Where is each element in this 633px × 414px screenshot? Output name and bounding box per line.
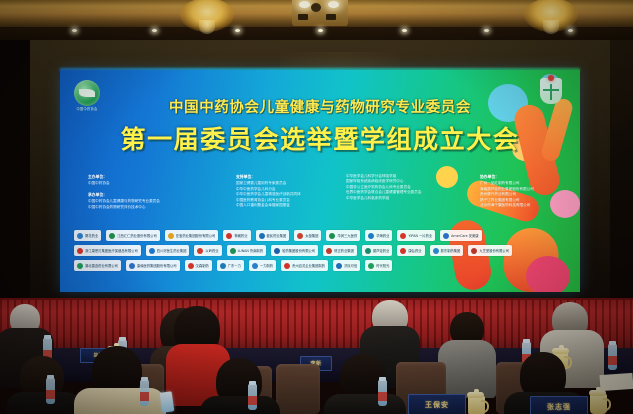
sponsor-name: LUNAN 鲁南制药 xyxy=(238,249,264,253)
sponsor-logo: 江西汇仁药业股份有限公司 xyxy=(106,230,160,241)
organizer-credits: 主办单位：中国中药协会承办单位：中国中药协会儿童健康与药物研究专业委员会中国中药… xyxy=(78,174,570,232)
sponsor-mark-icon xyxy=(109,233,115,239)
sponsor-mark-icon xyxy=(329,233,335,239)
sponsor-name: 时代阳光 xyxy=(376,264,389,268)
sponsor-logo: LUNAN 鲁南制药 xyxy=(227,245,267,256)
sponsor-logo: 修正药业集团 xyxy=(323,245,357,256)
sponsor-mark-icon xyxy=(197,248,203,254)
sponsor-name: 一力制药 xyxy=(260,264,273,268)
projector-lens-right xyxy=(328,1,339,8)
credit-line: 中国人口福利基金会幸福家园基金 xyxy=(236,203,356,208)
sponsor-logo: 华海药业 xyxy=(365,230,392,241)
sponsor-name: 华海药业 xyxy=(376,234,389,238)
screen-headline-secondary: 第一届委员会选举暨学组成立大会 xyxy=(60,120,580,156)
sponsor-mark-icon xyxy=(368,263,374,269)
sponsor-mark-icon xyxy=(226,233,232,239)
sponsor-name: 四川好医生药业集团 xyxy=(157,249,187,253)
audience-area: 马融 李新 xyxy=(0,300,633,414)
sponsor-mark-icon xyxy=(368,233,374,239)
sponsor-mark-icon xyxy=(252,263,258,269)
water-bottle xyxy=(248,384,257,410)
sponsor-name: 康缘医药集团股份有限公司 xyxy=(137,264,177,268)
sponsor-logo: 神威药业 xyxy=(223,230,250,241)
water-bottle xyxy=(378,380,387,406)
sponsor-mark-icon xyxy=(259,233,265,239)
downlight xyxy=(402,29,407,32)
sponsor-logo: 亚宝药业集团股份有限公司 xyxy=(165,230,219,241)
document-paper xyxy=(599,373,633,391)
sponsor-mark-icon xyxy=(149,248,155,254)
smartphone xyxy=(160,391,175,412)
led-stage-screen: 中国中药协会 中国中药协会儿童健康与药物研究专业委员会 第一届委员会选举暨学组成… xyxy=(60,70,580,292)
downlight xyxy=(568,29,573,32)
tea-cup xyxy=(468,396,485,414)
sponsor-mark-icon xyxy=(443,233,449,239)
sponsor-name: 贵州百灵企业集团制药 xyxy=(292,264,325,268)
ceiling-projector-housing xyxy=(292,0,348,26)
sponsor-mark-icon xyxy=(77,233,83,239)
conference-hall-photo: 中国中药协会 中国中药协会儿童健康与药物研究专业委员会 第一届委员会选举暨学组成… xyxy=(0,0,633,414)
sponsor-name: 以岭药业 xyxy=(205,249,218,253)
sponsor-logo: 九芝堂股份有限公司 xyxy=(468,245,512,256)
sponsor-mark-icon xyxy=(400,233,406,239)
credit-block-header: 协办单位： xyxy=(480,174,580,179)
credit-block-header: 承办单位： xyxy=(88,192,238,197)
credit-block-header: 支持单位： xyxy=(236,174,356,179)
sponsor-name: 九芝堂股份有限公司 xyxy=(479,249,509,253)
downlight xyxy=(72,29,77,32)
sponsor-logo: YIPAN 一片药业 xyxy=(397,230,435,241)
sponsor-mark-icon xyxy=(326,248,332,254)
sponsor-mark-icon xyxy=(129,263,135,269)
sponsor-name: 太极集团 xyxy=(305,234,318,238)
sponsor-logo: 汉森制药 xyxy=(185,260,212,271)
sponsor-logo: 时代阳光 xyxy=(365,260,392,271)
sponsor-name: 葵花药业 xyxy=(85,234,98,238)
sponsor-name: 葫芦娃药业 xyxy=(373,249,389,253)
sponsor-name: 亚宝药业集团股份有限公司 xyxy=(176,234,216,238)
sponsor-mark-icon xyxy=(471,248,477,254)
sponsor-logo: 康缘医药集团股份有限公司 xyxy=(126,260,180,271)
sponsor-mark-icon xyxy=(365,248,371,254)
sponsor-logo: 济民可信 xyxy=(333,260,360,271)
sponsor-mark-icon xyxy=(274,248,280,254)
sponsor-logo: 葫芦娃药业 xyxy=(362,245,392,256)
sponsor-logo: 哈药集团股份有限公司 xyxy=(271,245,318,256)
sponsor-mark-icon xyxy=(230,248,236,254)
wall-left-dark xyxy=(0,40,30,310)
sponsor-logo: 康弘药业 xyxy=(397,245,424,256)
sponsor-mark-icon xyxy=(168,233,174,239)
tea-cup xyxy=(590,394,607,414)
sponsor-logo: 华润三九医药 xyxy=(326,230,360,241)
sponsor-logo: 浙江康恩贝集团医疗保健品有限公司 xyxy=(74,245,141,256)
sponsor-mark-icon xyxy=(400,248,406,254)
sponsor-row: 浙江康恩贝集团医疗保健品有限公司四川好医生药业集团以岭药业LUNAN 鲁南制药哈… xyxy=(74,245,520,256)
sponsor-name: 浙江康恩贝集团医疗保健品有限公司 xyxy=(85,249,138,253)
sponsor-row: 葵花药业江西汇仁药业股份有限公司亚宝药业集团股份有限公司神威药业健民药业集团太极… xyxy=(74,230,520,241)
sponsor-name: 济民可信 xyxy=(344,264,357,268)
sponsor-name: YIPAN 一片药业 xyxy=(408,234,432,238)
sponsor-logo: 一力制药 xyxy=(249,260,276,271)
water-bottle xyxy=(608,344,617,370)
credit-line: 北京药海宁康医药科技有限公司 xyxy=(480,203,580,208)
sponsor-logo: 健民药业集团 xyxy=(256,230,290,241)
downlight xyxy=(152,29,157,32)
downlight xyxy=(484,29,489,32)
downlight xyxy=(235,29,240,32)
sponsor-name: 汉森制药 xyxy=(196,264,209,268)
projector-lens-left xyxy=(299,1,310,8)
sponsor-name: AmerCare 安美康 xyxy=(451,234,478,238)
sponsor-logo: 太极集团 xyxy=(294,230,321,241)
sponsor-logo: 贵州百灵企业集团制药 xyxy=(281,260,328,271)
sponsor-name: 振东制药集团 xyxy=(441,249,461,253)
sponsor-name: 康弘药业 xyxy=(408,249,421,253)
sponsor-name: 华润三九医药 xyxy=(337,234,357,238)
sponsor-mark-icon xyxy=(77,248,83,254)
sponsor-name: 广东一力 xyxy=(228,264,241,268)
sponsor-mark-icon xyxy=(297,233,303,239)
screen-headline-primary: 中国中药协会儿童健康与药物研究专业委员会 xyxy=(60,96,580,117)
credit-block-header: 主办单位： xyxy=(88,174,238,179)
sponsor-logo: 葵花药业 xyxy=(74,230,101,241)
sponsor-mark-icon xyxy=(433,248,439,254)
sponsor-mark-icon xyxy=(284,263,290,269)
sponsor-name: 神威药业 xyxy=(234,234,247,238)
sponsor-logo: 四川好医生药业集团 xyxy=(146,245,190,256)
nameplate-front-right: 张志强 xyxy=(530,396,588,414)
sponsor-mark-icon xyxy=(220,263,226,269)
sponsor-name: 湖北香连药业有限公司 xyxy=(85,264,118,268)
sponsor-name: 哈药集团股份有限公司 xyxy=(282,249,315,253)
nameplate-front-left: 王保安 xyxy=(408,394,466,414)
chair-back xyxy=(276,364,320,414)
credit-line: 中华医学会儿科临床药学组 xyxy=(346,196,486,201)
sponsor-logo: AmerCare 安美康 xyxy=(440,230,481,241)
sponsor-name: 健民药业集团 xyxy=(267,234,287,238)
sponsor-row: 湖北香连药业有限公司康缘医药集团股份有限公司汉森制药广东一力一力制药贵州百灵企业… xyxy=(74,260,520,271)
sponsor-name: 江西汇仁药业股份有限公司 xyxy=(117,234,157,238)
sponsor-mark-icon xyxy=(77,263,83,269)
sponsor-logo: 湖北香连药业有限公司 xyxy=(74,260,121,271)
sponsor-name: 修正药业集团 xyxy=(334,249,354,253)
water-bottle xyxy=(46,378,55,404)
sponsor-logo-grid: 葵花药业江西汇仁药业股份有限公司亚宝药业集团股份有限公司神威药业健民药业集团太极… xyxy=(74,230,520,275)
chandelier-left xyxy=(180,0,234,34)
water-bottle xyxy=(140,380,149,406)
sponsor-logo: 以岭药业 xyxy=(194,245,221,256)
sponsor-mark-icon xyxy=(336,263,342,269)
sponsor-logo: 广东一力 xyxy=(217,260,244,271)
sponsor-logo: 振东制药集团 xyxy=(430,245,464,256)
downlight xyxy=(318,29,323,32)
credit-line: 中国中药协会药物研究评价技术中心 xyxy=(88,205,238,210)
sponsor-mark-icon xyxy=(188,263,194,269)
